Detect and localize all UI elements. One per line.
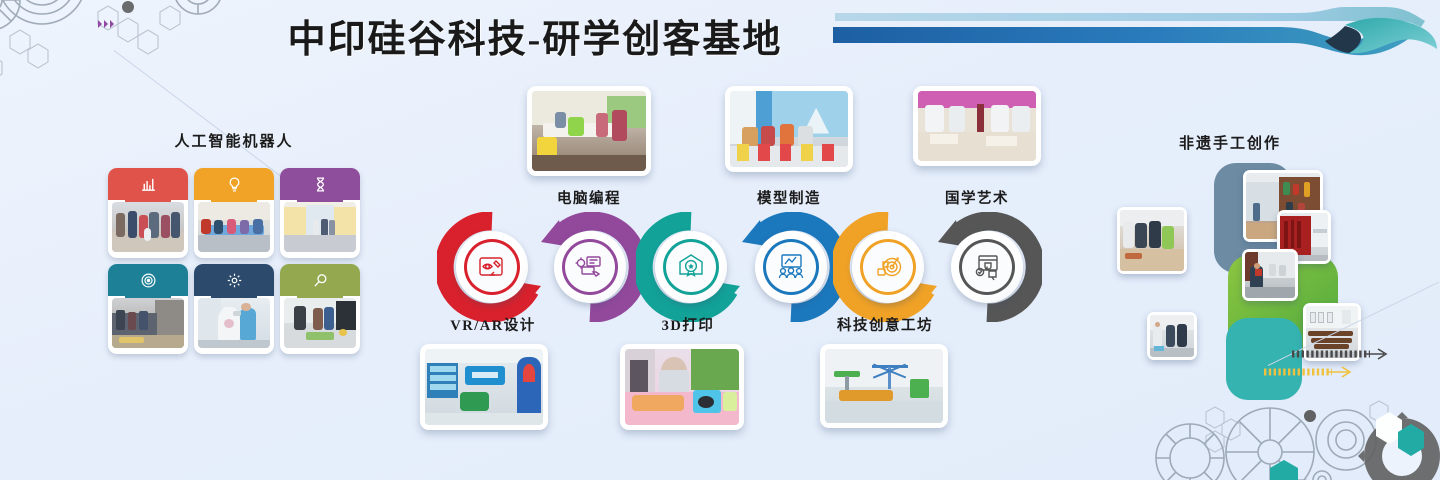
card-header (280, 168, 360, 200)
right-photo-card[interactable] (1147, 312, 1197, 360)
photo-card[interactable] (913, 86, 1041, 166)
card-photo (284, 202, 356, 252)
photo-maker-workshop-models (825, 349, 943, 423)
photo-card-label: 国学艺术 (897, 187, 1057, 208)
ring-label: 科技创意工坊 (805, 314, 965, 335)
poster-canvas: 中印硅谷科技-研学创客基地 人工智能机器人 (0, 0, 1440, 480)
card-photo (112, 202, 184, 252)
magnifier-icon (280, 268, 360, 292)
card-header (280, 264, 360, 296)
ring-label: VR/AR设计 (418, 314, 568, 335)
photo-craft-students-table (1120, 210, 1184, 271)
ring-inner (763, 239, 819, 295)
photo-card-label: 电脑编程 (509, 187, 669, 208)
photo-traditional-arts-studio (918, 91, 1036, 161)
photo-computer-programming-class (532, 91, 646, 171)
ai-robot-card-grid (108, 168, 360, 363)
photo-card[interactable] (620, 344, 744, 430)
photo-visitors-discussion (1150, 315, 1194, 357)
ring-inner (464, 239, 520, 295)
photo-card[interactable] (820, 344, 948, 428)
ring-inner (562, 239, 618, 295)
right-photo-card[interactable] (1117, 207, 1187, 274)
photo-artisan-at-bench (1245, 252, 1295, 298)
hourglass-icon (280, 172, 360, 196)
gear-decoration-top-left (0, 0, 290, 140)
trophy-browser-icon (970, 250, 1004, 284)
card-item[interactable] (108, 168, 188, 258)
ring-inner (663, 239, 719, 295)
ring-model[interactable] (736, 212, 846, 322)
ring-maker[interactable] (833, 212, 943, 322)
left-section-caption: 人工智能机器人 (108, 130, 360, 151)
ring-vr-ar[interactable] (437, 212, 547, 322)
card-item[interactable] (194, 168, 274, 258)
gear-icon (194, 268, 274, 292)
photo-card[interactable] (527, 86, 651, 176)
ring-inner (860, 239, 916, 295)
ring-3d-print[interactable] (636, 212, 746, 322)
photo-3d-printing-activity (625, 349, 739, 425)
header-ribbon (825, 5, 1440, 67)
photo-vr-ar-lab-lobby (425, 349, 543, 425)
card-item[interactable] (280, 168, 360, 258)
photo-model-making-classroom (730, 91, 848, 167)
team-board-icon (774, 250, 808, 284)
card-photo (284, 298, 356, 348)
card-header (194, 264, 274, 296)
bar-chart-icon (108, 172, 188, 196)
card-photo (112, 298, 184, 348)
ring-programming[interactable] (535, 212, 645, 322)
card-photo (198, 202, 270, 252)
badge-award-icon (674, 250, 708, 284)
code-hand-icon (573, 250, 607, 284)
card-item[interactable] (108, 264, 188, 354)
photo-card-label: 模型制造 (709, 187, 869, 208)
target-dart-icon (871, 250, 905, 284)
ring-arts[interactable] (932, 212, 1042, 322)
lightbulb-icon (194, 172, 274, 196)
ring-inner (959, 239, 1015, 295)
right-photo-card[interactable] (1242, 249, 1298, 301)
card-item[interactable] (280, 264, 360, 354)
card-item[interactable] (194, 264, 274, 354)
target-icon (108, 268, 188, 292)
right-section-caption: 非遗手工创作 (1110, 132, 1350, 153)
page-title: 中印硅谷科技-研学创客基地 (255, 4, 815, 66)
card-photo (198, 298, 270, 348)
card-header (108, 264, 188, 296)
photo-card[interactable] (725, 86, 853, 172)
ring-label: 3D打印 (613, 314, 763, 335)
photo-card[interactable] (420, 344, 548, 430)
card-header (194, 168, 274, 200)
card-header (108, 168, 188, 200)
vr-design-icon (475, 250, 509, 284)
dashed-arrows (1260, 342, 1410, 388)
